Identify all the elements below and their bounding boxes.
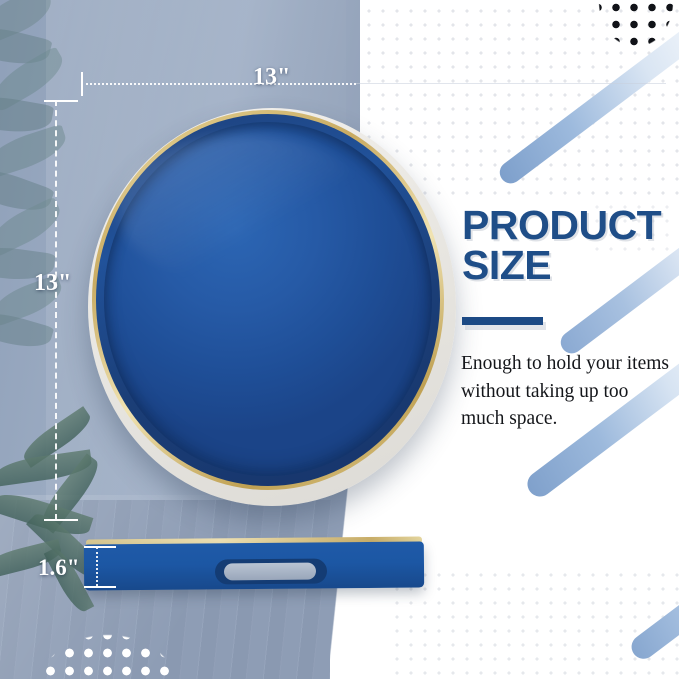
dimension-tick-thickness-bottom xyxy=(84,586,116,588)
dimension-label-width: 13" xyxy=(253,64,290,91)
dimension-tick-thickness-top xyxy=(84,546,116,548)
dimension-label-thickness: 1.6" xyxy=(38,555,80,581)
dimension-line-thickness xyxy=(96,547,98,586)
headline-line-2: SIZE xyxy=(462,245,677,285)
dimension-line-width-extension xyxy=(356,83,666,84)
infographic-canvas: 13" 13" 1.6" PRODUCT SIZE Enough to hold… xyxy=(0,0,679,679)
dimension-tick-height-top xyxy=(44,100,78,102)
page-title: PRODUCT SIZE xyxy=(462,205,677,285)
dimension-tick-height-bottom xyxy=(44,519,78,521)
headline-line-1: PRODUCT xyxy=(462,202,661,248)
white-dots-icon xyxy=(18,622,198,679)
dimension-label-height: 13" xyxy=(34,270,71,297)
tray-handle-opening xyxy=(224,563,316,581)
plant-foliage-upper xyxy=(0,0,100,350)
body-description: Enough to hold your items without taking… xyxy=(461,350,673,433)
title-underline xyxy=(462,317,543,325)
dimension-line-height xyxy=(55,100,57,520)
tray-highlight xyxy=(118,134,368,284)
dimension-line-width xyxy=(81,83,356,85)
dimension-tick-width-left xyxy=(81,72,83,96)
